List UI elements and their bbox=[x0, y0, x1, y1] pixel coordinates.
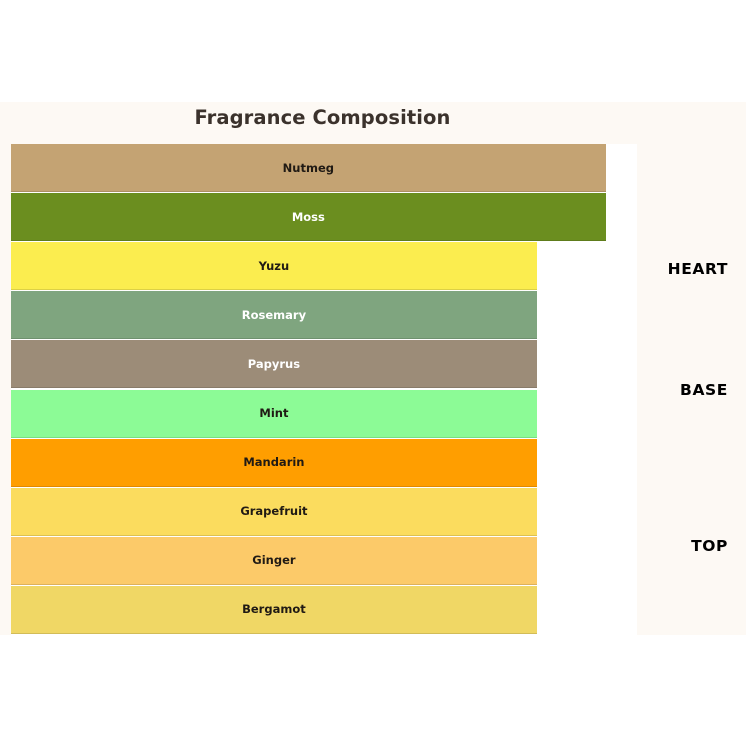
tier-label-base: BASE bbox=[680, 381, 728, 399]
bar-label-mandarin: Mandarin bbox=[243, 455, 304, 469]
tier-label-top: TOP bbox=[691, 537, 728, 555]
bar-nutmeg[interactable]: Nutmeg bbox=[11, 144, 606, 192]
bar-ginger[interactable]: Ginger bbox=[11, 537, 537, 585]
bar-moss[interactable]: Moss bbox=[11, 193, 606, 241]
bar-mint[interactable]: Mint bbox=[11, 390, 537, 438]
bar-label-ginger: Ginger bbox=[252, 553, 295, 567]
bar-label-rosemary: Rosemary bbox=[242, 308, 306, 322]
bar-label-moss: Moss bbox=[292, 210, 325, 224]
bar-label-grapefruit: Grapefruit bbox=[240, 504, 307, 518]
bar-label-papyrus: Papyrus bbox=[248, 357, 300, 371]
bar-yuzu[interactable]: Yuzu bbox=[11, 242, 537, 290]
chart-figure: Fragrance Composition NutmegMossYuzuRose… bbox=[0, 102, 746, 635]
page-title: Fragrance Composition bbox=[0, 106, 645, 129]
bar-grapefruit[interactable]: Grapefruit bbox=[11, 488, 537, 536]
plot-area: NutmegMossYuzuRosemaryPapyrusMintMandari… bbox=[11, 144, 637, 635]
bar-label-bergamot: Bergamot bbox=[242, 602, 306, 616]
bar-label-nutmeg: Nutmeg bbox=[283, 161, 334, 175]
bar-mandarin[interactable]: Mandarin bbox=[11, 439, 537, 487]
bar-rosemary[interactable]: Rosemary bbox=[11, 291, 537, 339]
bar-label-yuzu: Yuzu bbox=[259, 259, 290, 273]
bar-label-mint: Mint bbox=[259, 406, 288, 420]
bar-papyrus[interactable]: Papyrus bbox=[11, 340, 537, 388]
bar-bergamot[interactable]: Bergamot bbox=[11, 586, 537, 634]
tier-label-heart: HEART bbox=[668, 260, 728, 278]
